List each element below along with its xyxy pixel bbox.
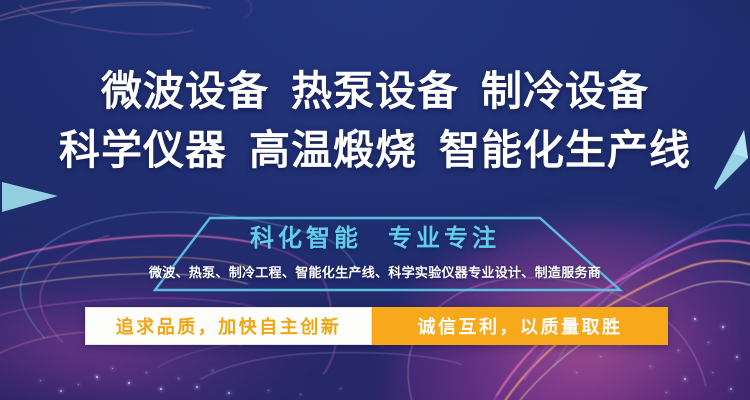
triangle-right-icon: [2, 182, 58, 212]
tagline: 微波、热泵、制冷工程、智能化生产线、科学实验仪器专业设计、制造服务商: [0, 263, 750, 283]
slogan-badge-quality[interactable]: 追求品质，加快自主创新: [85, 307, 372, 345]
headline-seg: 智能化生产线: [439, 121, 691, 180]
headline-line-1: 微波设备热泵设备制冷设备: [0, 62, 750, 121]
promo-banner: 微波设备热泵设备制冷设备 科学仪器高温煅烧智能化生产线 科化智能专业专注 微波、…: [0, 0, 750, 400]
headline-seg: 科学仪器: [59, 121, 227, 180]
subtitle: 科化智能专业专注: [0, 222, 750, 256]
headline-line-2: 科学仪器高温煅烧智能化生产线: [0, 121, 750, 180]
headline-seg: 制冷设备: [481, 62, 649, 121]
slogan-badges: 追求品质，加快自主创新 诚信互利，以质量取胜: [85, 307, 668, 345]
headline-seg: 微波设备: [101, 62, 269, 121]
subtitle-left: 科化智能: [250, 225, 362, 252]
headline: 微波设备热泵设备制冷设备 科学仪器高温煅烧智能化生产线: [0, 62, 750, 180]
subtitle-right: 专业专注: [388, 225, 500, 252]
slogan-badge-integrity[interactable]: 诚信互利，以质量取胜: [372, 307, 668, 345]
headline-seg: 热泵设备: [291, 62, 459, 121]
headline-seg: 高温煅烧: [249, 121, 417, 180]
